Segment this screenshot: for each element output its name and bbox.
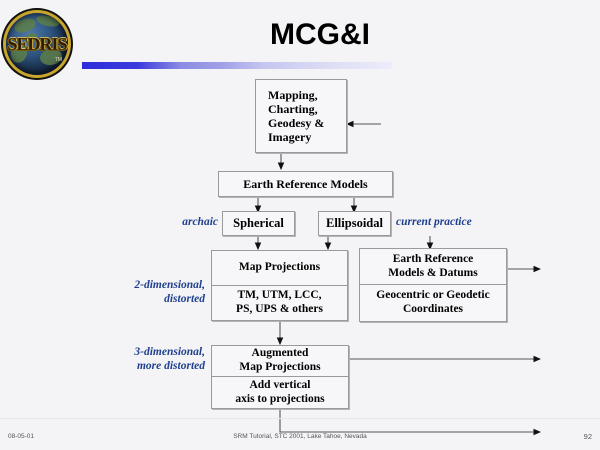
footer-divider xyxy=(0,418,600,419)
box-header: Map Projections xyxy=(212,251,347,286)
box-earth-reference-models[interactable]: Earth Reference Models xyxy=(218,171,393,197)
note-line: 2-dimensional, xyxy=(95,278,205,292)
note-line: archaic xyxy=(168,215,218,229)
box-line: Geocentric or Geodetic xyxy=(376,289,489,303)
box-line: Map Projections xyxy=(239,261,320,275)
logo-wordmark: SEDRIS xyxy=(6,34,68,55)
box-label: Ellipsoidal xyxy=(319,212,390,235)
slide-canvas: SEDRIS TM MCG&I xyxy=(0,0,600,450)
box-line: Mapping, xyxy=(268,88,324,102)
footer-page-number: 92 xyxy=(584,432,592,441)
box-line: Coordinates xyxy=(376,303,489,317)
box-line: Models & Datums xyxy=(388,267,477,281)
box-header: Earth Reference Models & Datums xyxy=(360,249,506,285)
note-line: distorted xyxy=(95,292,205,306)
box-map-projections[interactable]: Map Projections TM, UTM, LCC, PS, UPS & … xyxy=(211,250,348,321)
box-line: Earth Reference xyxy=(388,253,477,267)
note-two-dimensional-distorted: 2-dimensional, distorted xyxy=(95,278,205,307)
note-current-practice: current practice xyxy=(396,215,506,229)
note-line: more distorted xyxy=(90,359,205,373)
trademark-mark: TM xyxy=(55,57,62,63)
box-body: Add vertical axis to projections xyxy=(212,377,348,408)
box-body: TM, UTM, LCC, PS, UPS & others xyxy=(212,286,347,321)
box-augmented-map-projections[interactable]: Augmented Map Projections Add vertical a… xyxy=(211,345,349,409)
note-archaic: archaic xyxy=(168,215,218,229)
box-line: Add vertical xyxy=(235,379,324,393)
box-line: Imagery xyxy=(268,130,324,144)
sedris-globe-logo: SEDRIS TM xyxy=(6,13,68,75)
page-title: MCG&I xyxy=(120,18,520,52)
box-line: PS, UPS & others xyxy=(236,303,323,317)
box-header: Augmented Map Projections xyxy=(212,346,348,377)
box-mapping-charting-geodesy-imagery[interactable]: Mapping, Charting, Geodesy & Imagery xyxy=(255,79,347,153)
box-line: Geodesy & xyxy=(268,116,324,130)
box-label: Earth Reference Models xyxy=(219,172,392,196)
title-gradient-rule xyxy=(82,62,392,69)
note-line: 3-dimensional, xyxy=(90,345,205,359)
box-label: Spherical xyxy=(223,212,294,235)
footer-caption: SRM Tutorial, STC 2001, Lake Tahoe, Neva… xyxy=(0,433,600,440)
box-line: Map Projections xyxy=(239,361,320,375)
box-label: Mapping, Charting, Geodesy & Imagery xyxy=(256,80,346,152)
box-line: axis to projections xyxy=(235,393,324,407)
note-three-dimensional-more-distorted: 3-dimensional, more distorted xyxy=(90,345,205,374)
box-body: Geocentric or Geodetic Coordinates xyxy=(360,285,506,321)
box-ellipsoidal[interactable]: Ellipsoidal xyxy=(318,211,391,236)
box-line: Augmented xyxy=(239,347,320,361)
box-line: TM, UTM, LCC, xyxy=(236,289,323,303)
box-earth-reference-models-and-datums[interactable]: Earth Reference Models & Datums Geocentr… xyxy=(359,248,507,322)
box-spherical[interactable]: Spherical xyxy=(222,211,295,236)
note-line: current practice xyxy=(396,215,506,229)
box-line: Charting, xyxy=(268,102,324,116)
